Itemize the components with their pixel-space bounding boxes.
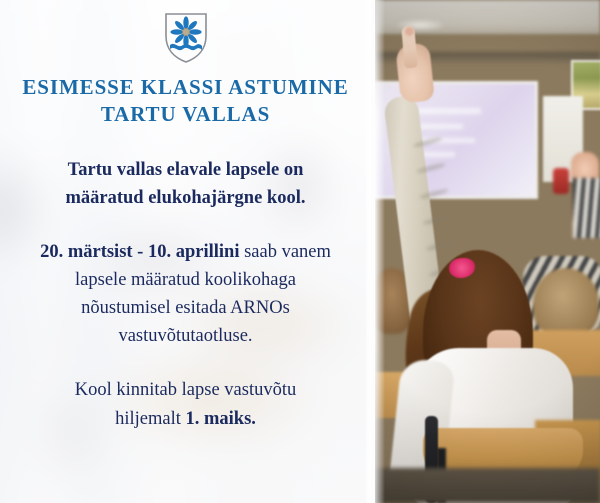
poster-root: ESIMESSE KLASSI ASTUMINE TARTU VALLAS Ta… (0, 0, 600, 503)
confirm-line-1: Kool kinnitab lapse vastuvõtu (18, 376, 353, 404)
panel-photo-gap (371, 0, 375, 503)
deadline-line-1: 20. märtsist - 10. aprillini saab vanem (18, 238, 353, 266)
body-text: Tartu vallas elavale lapsele on määratud… (18, 156, 353, 433)
confirm-line-2-pre: hiljemalt (115, 409, 185, 429)
confirm-line-2: hiljemalt 1. maiks. (18, 405, 353, 433)
lead-line-1: Tartu vallas elavale lapsele on (18, 156, 353, 184)
deadline-dates: 20. märtsist - 10. aprillini (40, 242, 239, 262)
confirm-deadline-date: 1. maiks. (185, 409, 255, 429)
coat-of-arms-icon (163, 12, 209, 64)
paragraph-deadline: 20. märtsist - 10. aprillini saab vanem … (18, 238, 353, 350)
photo-fingernail (405, 27, 414, 36)
classroom-photo (375, 0, 600, 503)
poster-title: ESIMESSE KLASSI ASTUMINE TARTU VALLAS (18, 74, 353, 128)
photo-pupil-right-head (533, 268, 599, 338)
paragraph-confirm: Kool kinnitab lapse vastuvõtu hiljemalt … (18, 376, 353, 432)
title-line-2: TARTU VALLAS (18, 101, 353, 128)
deadline-line-3: nõustumisel esitada ARNOs (18, 294, 353, 322)
photo-floor (375, 468, 600, 503)
title-line-1: ESIMESSE KLASSI ASTUMINE (18, 74, 353, 101)
deadline-line-4: vastuvõtutaotluse. (18, 322, 353, 350)
paragraph-lead: Tartu vallas elavale lapsele on määratud… (18, 156, 353, 212)
deadline-line-2: lapsele määratud koolikohaga (18, 266, 353, 294)
photo-teacher-body (573, 178, 600, 238)
photo-red-object (553, 168, 569, 194)
deadline-line-1-rest: saab vanem (239, 242, 330, 262)
lead-line-2: määratud elukohajärgne kool. (18, 184, 353, 212)
photo-left-fade (375, 0, 385, 503)
left-content: ESIMESSE KLASSI ASTUMINE TARTU VALLAS Ta… (0, 0, 371, 503)
